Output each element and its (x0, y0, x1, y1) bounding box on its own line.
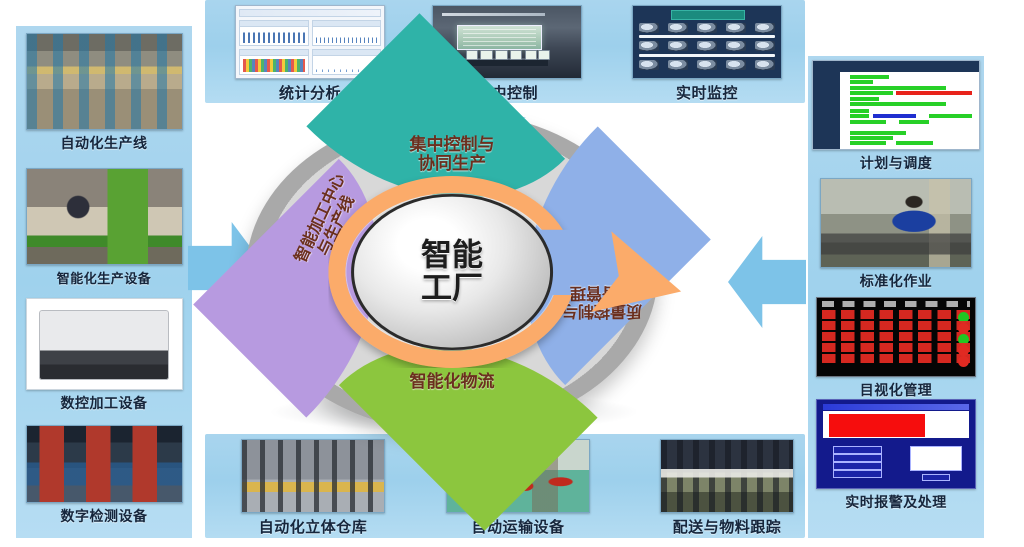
automated-warehouse-photo (241, 439, 385, 513)
card-production-line[interactable]: 自动化生产线 (25, 33, 183, 153)
card-realtime-alarm[interactable]: 实时报警及处理 (816, 399, 976, 512)
card-label: 实时报警及处理 (845, 492, 947, 512)
card-cnc-machine[interactable]: 数控加工设备 (25, 298, 183, 413)
center-title: 智能 工厂 (421, 239, 483, 304)
wheel-label-bottom: 智能化物流 (410, 373, 495, 392)
card-label: 自动化立体仓库 (259, 516, 368, 537)
standard-work-photo (820, 178, 972, 268)
digital-inspection-photo (26, 425, 183, 503)
smart-factory-wheel: 集中控制与 协同生产 质量控制与 设备管理 智能化物流 智能加工中心 与生产线 … (246, 112, 658, 432)
center-title-line2: 工厂 (421, 272, 483, 305)
card-realtime-monitoring[interactable]: 实时监控 (632, 5, 782, 103)
card-digital-inspection[interactable]: 数字检测设备 (25, 425, 183, 526)
card-standard-work[interactable]: 标准化作业 (820, 178, 972, 291)
alarm-handling-screenshot (816, 399, 976, 489)
card-label: 标准化作业 (860, 271, 933, 291)
card-visual-management[interactable]: 目视化管理 (816, 297, 976, 400)
card-automated-warehouse[interactable]: 自动化立体仓库 (228, 439, 398, 537)
smart-equipment-photo (26, 168, 183, 265)
card-label: 智能化生产设备 (57, 268, 152, 287)
material-tracking-photo (660, 439, 794, 513)
card-label: 目视化管理 (860, 380, 933, 400)
statistics-dashboard-screenshot (235, 5, 385, 79)
card-smart-equipment[interactable]: 智能化生产设备 (25, 168, 183, 287)
gantt-schedule-screenshot (812, 60, 980, 150)
arrow-right-to-center-icon (728, 236, 806, 328)
card-material-tracking[interactable]: 配送与物料跟踪 (642, 439, 812, 537)
production-line-photo (26, 33, 183, 130)
cnc-machine-photo (26, 298, 183, 390)
card-label: 配送与物料跟踪 (673, 516, 782, 537)
wheel-label-top: 集中控制与 协同生产 (410, 136, 495, 174)
card-label: 实时监控 (676, 82, 738, 103)
diagram-canvas: 自动化生产线 智能化生产设备 数控加工设备 数字检测设备 (0, 0, 1024, 547)
realtime-monitoring-screenshot (632, 5, 782, 79)
card-planning-scheduling[interactable]: 计划与调度 (812, 60, 980, 173)
andon-board-screenshot (816, 297, 976, 377)
center-title-line1: 智能 (421, 239, 483, 272)
card-label: 自动化生产线 (61, 133, 148, 153)
card-label: 数字检测设备 (61, 506, 148, 526)
card-label: 数控加工设备 (61, 393, 148, 413)
card-label: 计划与调度 (860, 153, 933, 173)
